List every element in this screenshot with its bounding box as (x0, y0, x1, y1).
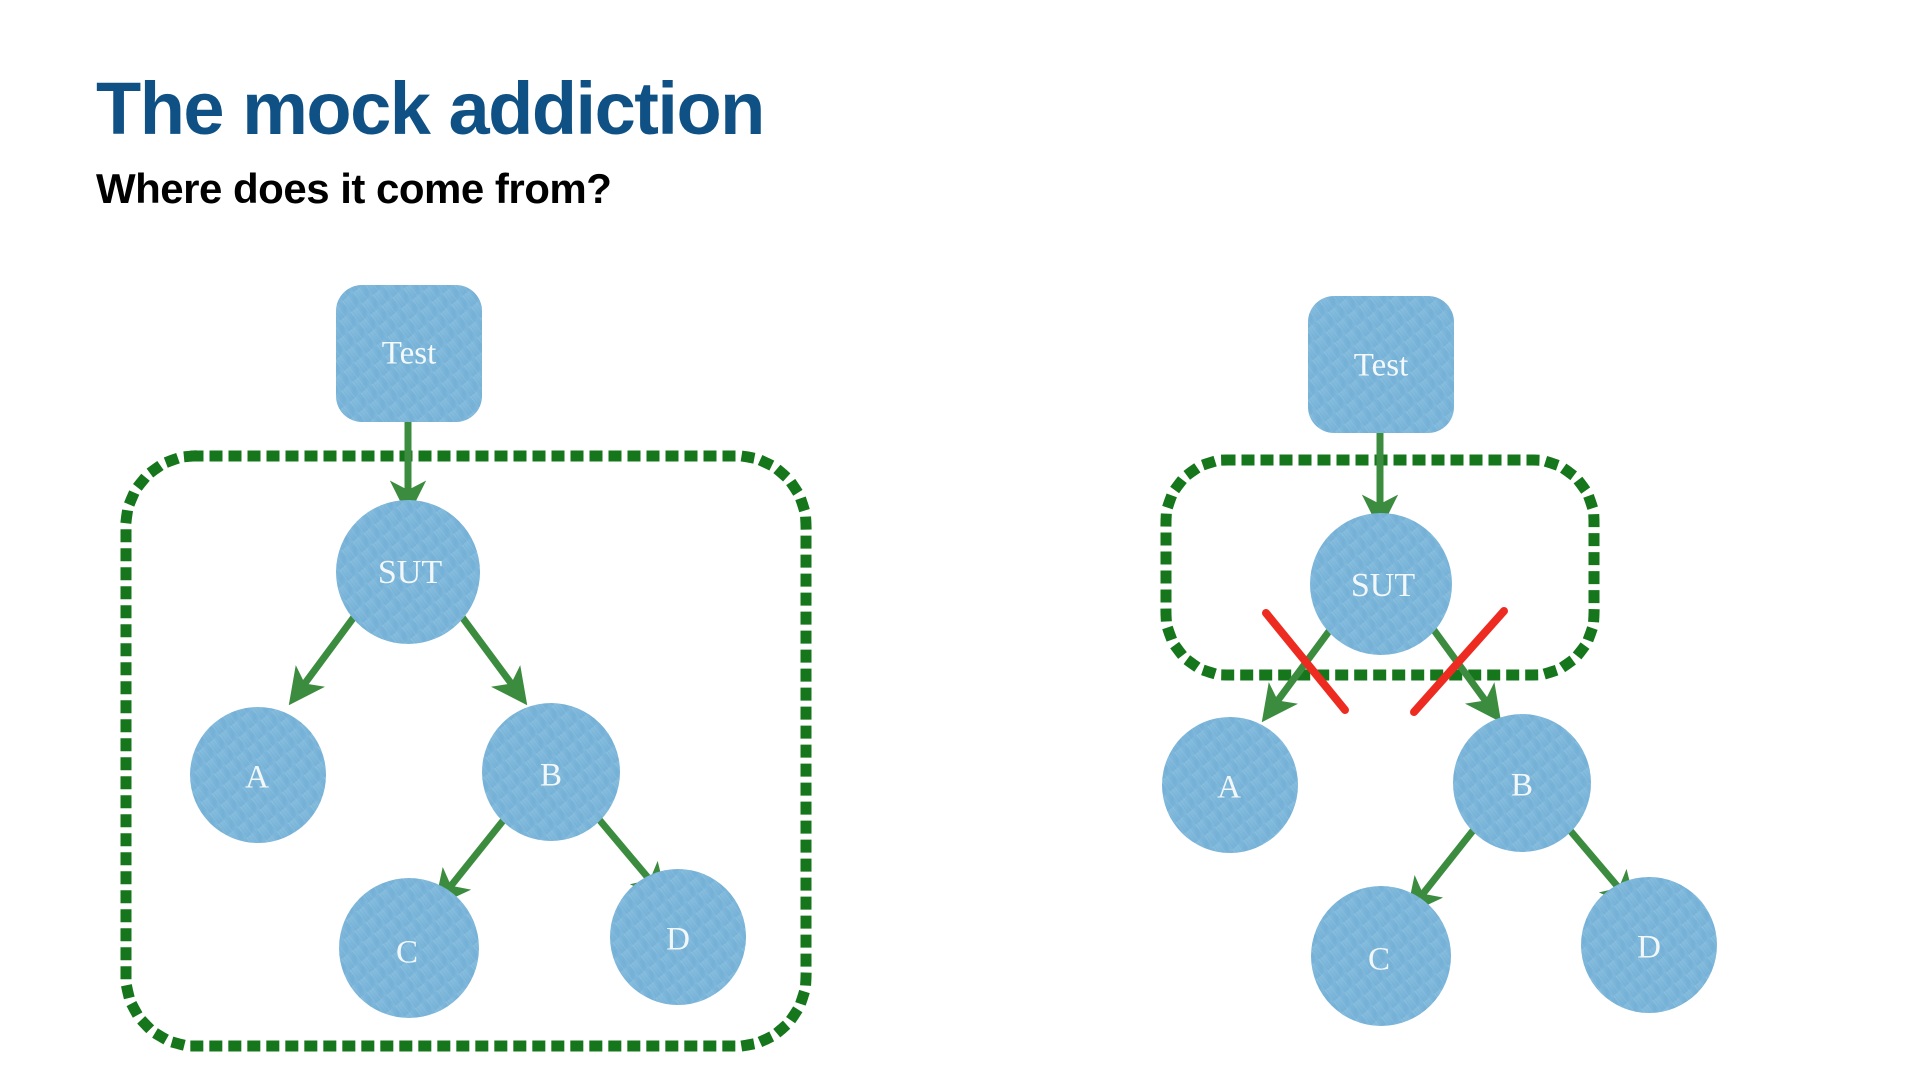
left-node-b[interactable]: B (482, 703, 620, 841)
diagram-canvas: Test SUT A B (0, 0, 1920, 1080)
left-node-test-label: Test (382, 336, 437, 372)
slide-root: The mock addiction Where does it come fr… (0, 0, 1920, 1080)
right-node-sut[interactable]: SUT (1310, 513, 1452, 655)
left-node-a[interactable]: A (190, 707, 326, 843)
right-node-d-label: D (1637, 930, 1661, 966)
left-node-b-label: B (540, 758, 562, 794)
diagram-svg: Test SUT A B (0, 0, 1920, 1080)
left-edge-b-c (446, 817, 506, 892)
right-edge-b-d (1568, 828, 1624, 894)
right-node-a-label: A (1217, 770, 1241, 806)
right-edge-b-c (1418, 828, 1475, 900)
left-node-c[interactable]: C (339, 878, 479, 1018)
right-node-a[interactable]: A (1162, 717, 1298, 853)
left-node-c-label: C (396, 935, 418, 971)
right-node-test-label: Test (1354, 348, 1409, 384)
left-node-test[interactable]: Test (336, 285, 482, 422)
left-node-d-label: D (666, 922, 690, 958)
left-node-sut-label: SUT (378, 554, 442, 591)
right-node-c-label: C (1368, 942, 1390, 978)
left-node-sut[interactable]: SUT (336, 500, 480, 644)
left-node-a-label: A (245, 760, 269, 796)
right-node-sut-label: SUT (1351, 567, 1415, 604)
right-node-c[interactable]: C (1311, 886, 1451, 1026)
right-node-b-label: B (1511, 768, 1533, 804)
left-edge-b-d (597, 817, 655, 886)
left-diagram: Test SUT A B (126, 285, 806, 1046)
right-node-d[interactable]: D (1581, 877, 1717, 1013)
right-diagram: Test SUT A B (1162, 296, 1717, 1026)
left-node-d[interactable]: D (610, 869, 746, 1005)
right-node-b[interactable]: B (1453, 714, 1591, 852)
right-node-test[interactable]: Test (1308, 296, 1454, 433)
